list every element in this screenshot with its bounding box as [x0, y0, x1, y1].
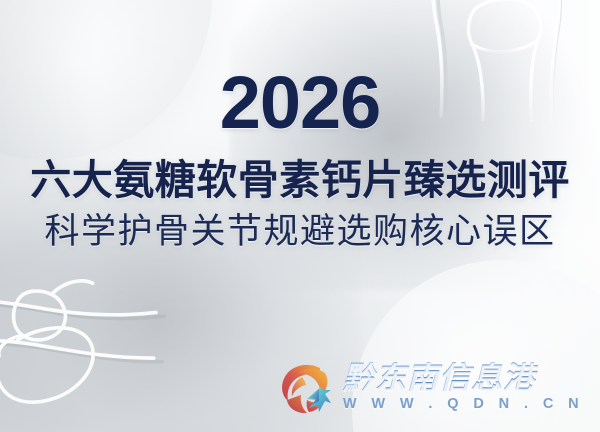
page-subtitle: 科学护骨关节规避选购核心误区 [0, 213, 600, 252]
year-label: 2026 [0, 66, 600, 140]
page-title: 六大氨糖软骨素钙片臻选测评 [0, 158, 600, 202]
qdn-spiral-logo-icon [275, 356, 337, 418]
poster-text-block: 2026 六大氨糖软骨素钙片臻选测评 科学护骨关节规避选购核心误区 [0, 0, 600, 252]
site-logo[interactable]: 黔东南信息港 W W W . Q D N . C N [275, 356, 584, 418]
logo-website-url: W W W . Q D N . C N [343, 396, 584, 412]
poster-canvas: 2026 六大氨糖软骨素钙片臻选测评 科学护骨关节规避选购核心误区 [0, 0, 600, 432]
logo-brand-name: 黔东南信息港 [343, 362, 539, 395]
logo-wordmark: 黔东南信息港 W W W . Q D N . C N [343, 362, 584, 412]
